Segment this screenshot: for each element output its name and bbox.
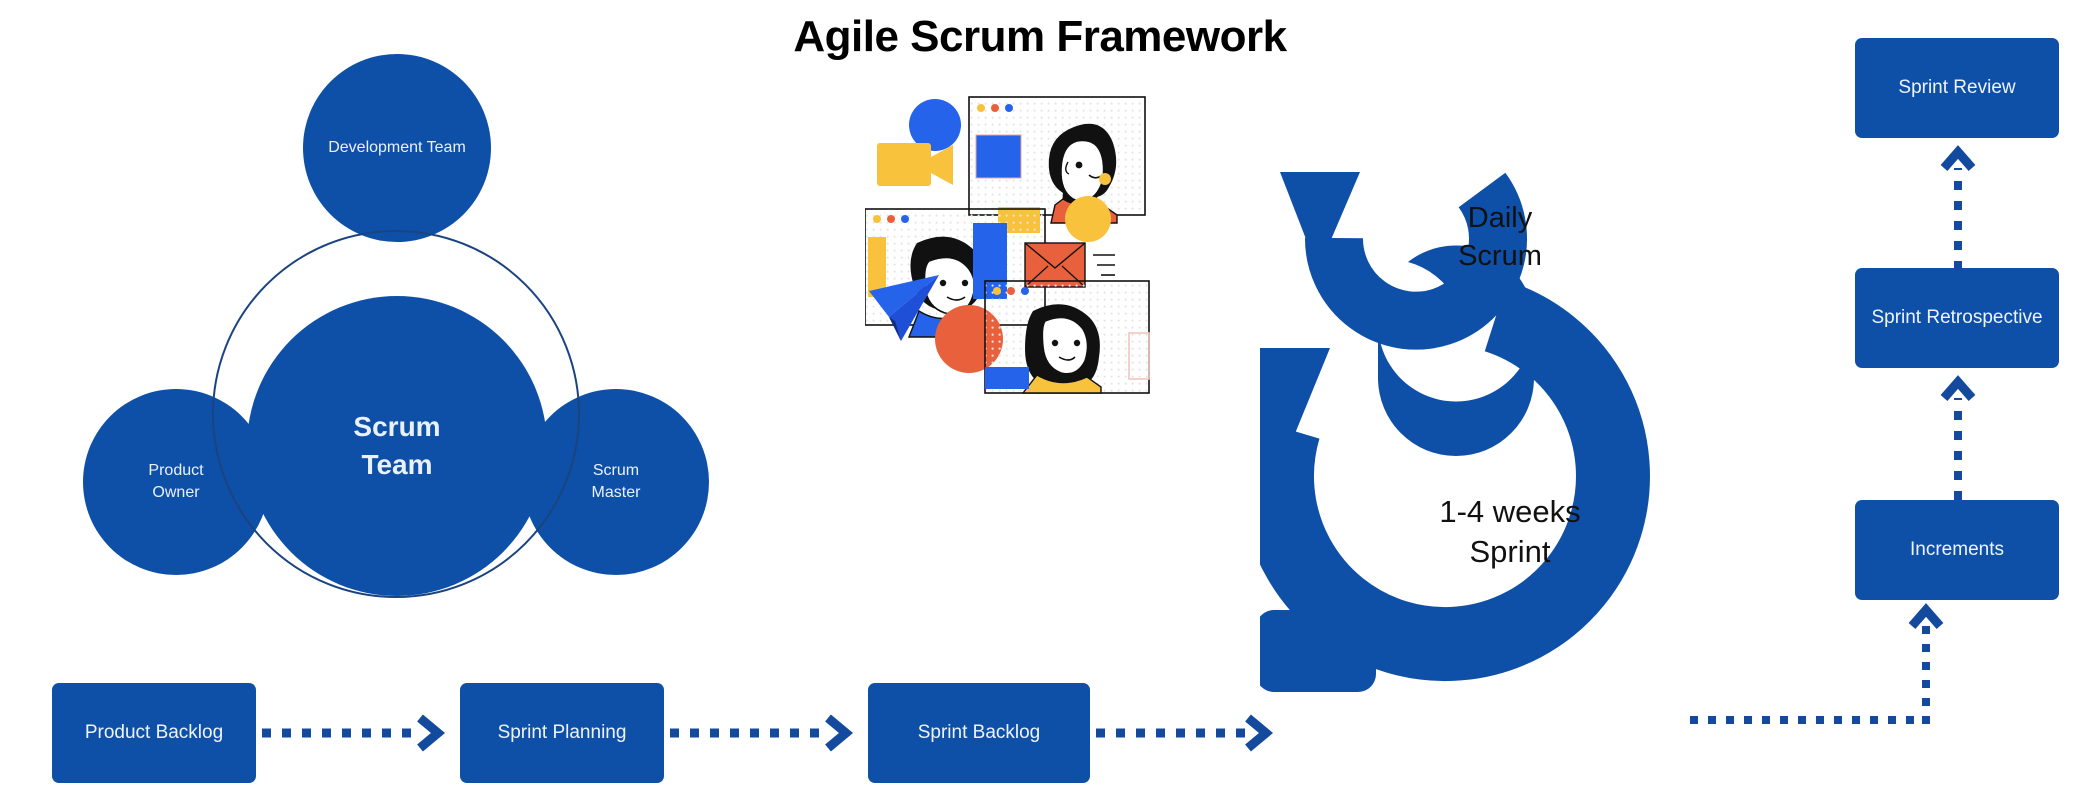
box-sprint-retrospective[interactable]: Sprint Retrospective <box>1855 268 2059 368</box>
scrum-master-line1: Scrum <box>593 462 639 479</box>
scrum-team-label-line2: Team <box>361 449 432 480</box>
daily-scrum-line2: Scrum <box>1458 240 1542 272</box>
circle-development-team[interactable]: Development Team <box>303 54 491 242</box>
video-conference-illustration <box>865 95 1175 395</box>
box-sprint-backlog[interactable]: Sprint Backlog <box>868 683 1090 783</box>
arrow-sprint-cycle-to-increments <box>1690 600 1990 760</box>
agile-scrum-framework-diagram: Agile Scrum Framework Development Team S… <box>0 0 2080 800</box>
sprint-duration-label: 1-4 weeks Sprint <box>1390 492 1630 573</box>
scrum-team-label-line1: Scrum <box>353 411 440 442</box>
arrow-increments-to-sprint-retrospective <box>1930 372 1986 500</box>
sprint-duration-line1: 1-4 weeks <box>1439 494 1580 529</box>
sprint-loop <box>1260 316 1613 644</box>
box-increments-label: Increments <box>1910 539 2004 561</box>
box-sprint-review-label: Sprint Review <box>1898 77 2015 99</box>
circle-product-owner-label: Product Owner <box>148 460 203 503</box>
box-sprint-review[interactable]: Sprint Review <box>1855 38 2059 138</box>
box-product-backlog-label: Product Backlog <box>85 722 223 744</box>
arrow-sprint-backlog-to-sprint-cycle <box>1096 710 1286 756</box>
video-window-bottom <box>985 281 1149 393</box>
sprint-cycle-spiral <box>1260 80 1720 750</box>
arrow-product-backlog-to-sprint-planning <box>262 710 458 756</box>
product-owner-line1: Product <box>148 462 203 479</box>
circle-development-team-label: Development Team <box>328 137 466 159</box>
spiral-tail <box>1260 610 1376 692</box>
circle-scrum-team-label: Scrum Team <box>353 408 440 484</box>
box-sprint-backlog-label: Sprint Backlog <box>918 722 1041 744</box>
arrow-sprint-retrospective-to-sprint-review <box>1930 142 1986 270</box>
daily-scrum-label: Daily Scrum <box>1405 200 1595 275</box>
daily-scrum-line1: Daily <box>1468 202 1532 234</box>
box-increments[interactable]: Increments <box>1855 500 2059 600</box>
box-product-backlog[interactable]: Product Backlog <box>52 683 256 783</box>
product-owner-line2: Owner <box>152 484 199 501</box>
yellow-circle-decoration <box>1065 196 1111 242</box>
box-sprint-planning-label: Sprint Planning <box>498 722 627 744</box>
box-sprint-planning[interactable]: Sprint Planning <box>460 683 664 783</box>
scrum-team-cluster: Development Team Scrum Team Product Owne… <box>40 30 760 590</box>
circle-scrum-master-label: Scrum Master <box>592 460 641 503</box>
box-sprint-retrospective-label: Sprint Retrospective <box>1871 307 2042 329</box>
sprint-duration-line2: Sprint <box>1470 534 1551 569</box>
arrow-sprint-planning-to-sprint-backlog <box>670 710 866 756</box>
scrum-master-line2: Master <box>592 484 641 501</box>
circle-scrum-team[interactable]: Scrum Team <box>247 296 547 596</box>
